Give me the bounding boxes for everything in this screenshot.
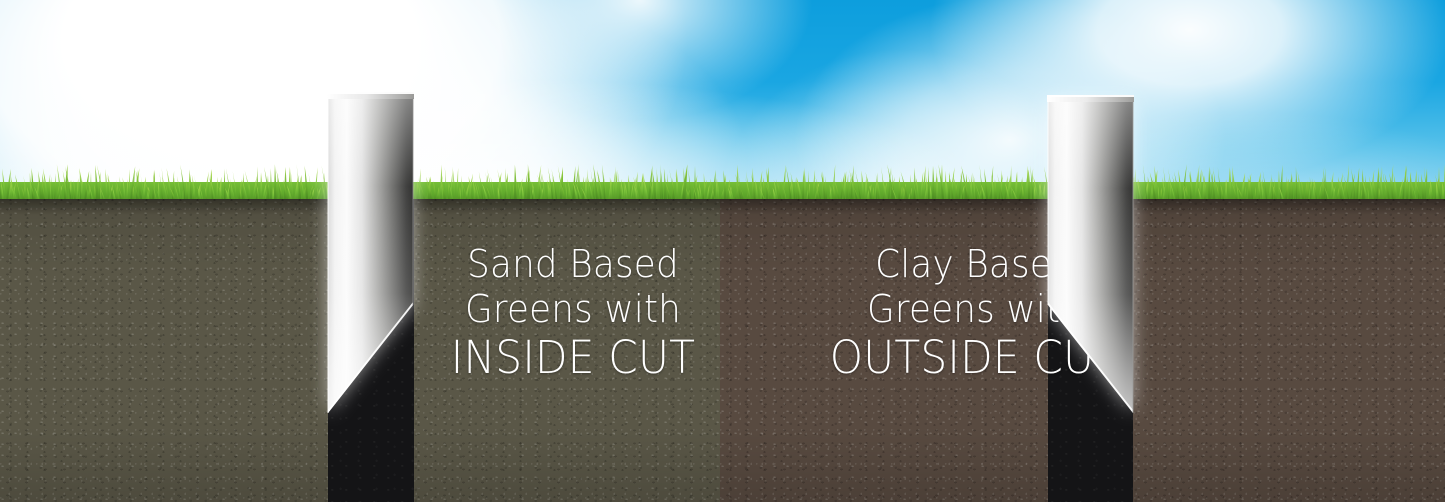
grass-blade: [1208, 166, 1210, 202]
grass-blade: [189, 169, 192, 202]
grass-blade: [260, 172, 262, 202]
grass-blade: [928, 167, 930, 202]
grass-blade: [808, 171, 809, 202]
grass-blade: [54, 174, 56, 203]
grass-blade: [802, 170, 804, 202]
grass-turf-band: [0, 160, 1445, 204]
grass-blade: [812, 169, 815, 202]
cup-cutter-blade-outside[interactable]: [1020, 73, 1180, 453]
grass-blade: [932, 166, 934, 202]
grass-blade: [944, 171, 946, 202]
grass-blade: [1230, 169, 1232, 202]
grass-blade: [804, 168, 806, 203]
grass-blade: [1418, 174, 1419, 202]
grass-blade: [270, 168, 272, 202]
blade-sheen-inside: [328, 98, 413, 413]
grass-blade: [587, 169, 590, 202]
blade-top-highlight-outside: [1047, 95, 1134, 97]
grass-blade: [167, 168, 173, 202]
grass-blade: [1406, 175, 1408, 202]
grass-blade: [48, 175, 50, 202]
grass-blade: [861, 171, 864, 203]
grass-blade: [846, 174, 848, 202]
grass-blade: [128, 169, 130, 202]
blade-top-highlight-inside: [327, 92, 414, 94]
grass-blade: [1421, 174, 1424, 202]
grass-blade: [256, 167, 258, 202]
blade-sheen-outside: [1048, 101, 1133, 413]
grass-blade: [948, 172, 950, 202]
grass-blade: [1278, 170, 1280, 202]
grass-blade: [274, 164, 276, 202]
grass-blade: [1389, 173, 1394, 202]
cup-cutter-blade-inside[interactable]: [300, 70, 460, 450]
grass-blade: [628, 175, 630, 202]
grass-blade: [233, 171, 238, 202]
grass-blade: [910, 174, 912, 202]
grass-blade: [528, 164, 530, 202]
grass-blade: [224, 169, 226, 202]
diagram-canvas: Sand Based Greens with INSIDE CUT Clay B…: [0, 0, 1445, 502]
grass-blade: [479, 172, 484, 203]
grass-blade: [105, 169, 108, 202]
grass-blades-svg: [0, 160, 1445, 204]
grass-blade: [1296, 166, 1298, 202]
